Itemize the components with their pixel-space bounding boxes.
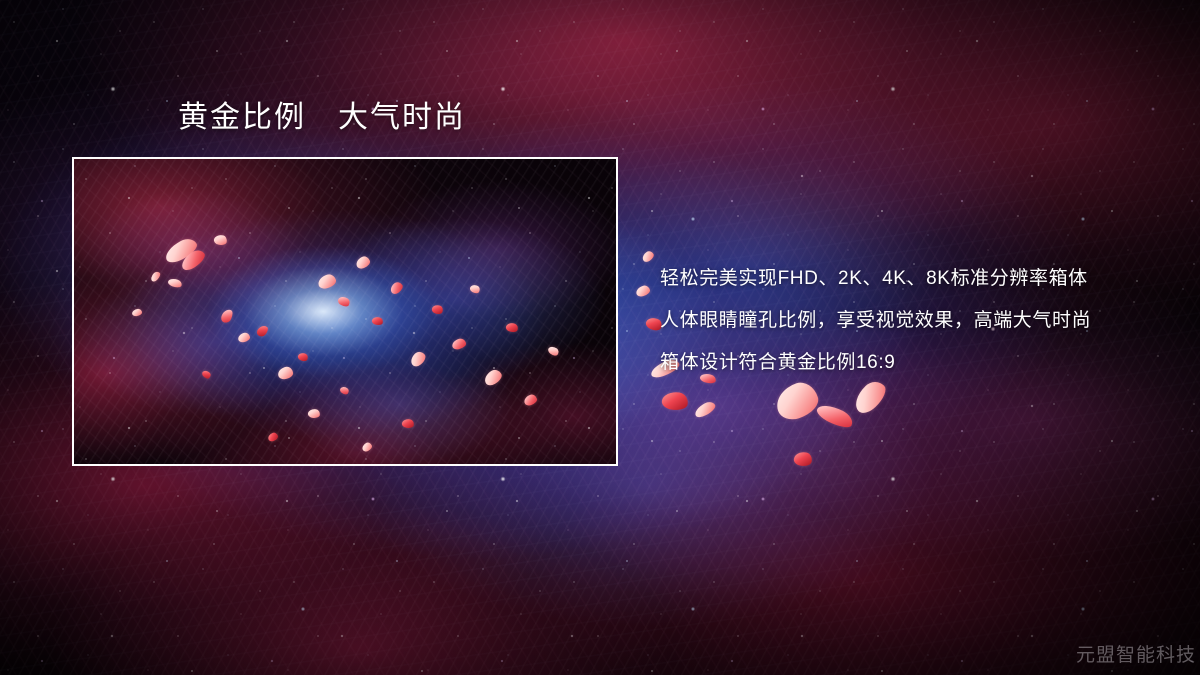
- petal: [178, 247, 207, 273]
- petal: [277, 366, 294, 380]
- petal: [237, 332, 251, 343]
- petal: [693, 399, 718, 419]
- petal: [523, 393, 538, 407]
- body-line-3: 箱体设计符合黄金比例16:9: [660, 342, 1180, 384]
- slide-canvas: 黄金比例 大气时尚 轻松完美实现FHD、2K、4K、8K标准分辨率箱体 人体眼睛…: [0, 0, 1200, 675]
- petal: [482, 367, 504, 387]
- petal: [149, 270, 162, 283]
- petal-field-inside: [72, 157, 618, 466]
- petal: [431, 303, 444, 315]
- slide-title: 黄金比例 大气时尚: [178, 100, 466, 136]
- petal: [317, 273, 338, 290]
- petal: [793, 451, 813, 468]
- petal: [162, 235, 200, 266]
- body-line-1: 轻松完美实现FHD、2K、4K、8K标准分辨率箱体: [660, 258, 1180, 300]
- panel-filament-layer: [72, 157, 618, 466]
- petal: [167, 277, 183, 289]
- petal: [401, 418, 414, 429]
- petal: [451, 337, 467, 350]
- petal: [213, 234, 228, 246]
- petal: [641, 249, 656, 263]
- framed-image-panel: [72, 157, 618, 466]
- petal: [772, 378, 822, 423]
- panel-starfield-medium: [72, 157, 618, 466]
- petal: [255, 324, 270, 339]
- petal: [354, 255, 371, 270]
- petal: [267, 432, 279, 443]
- panel-base-layer: [72, 157, 618, 466]
- body-text-block: 轻松完美实现FHD、2K、4K、8K标准分辨率箱体 人体眼睛瞳孔比例，享受视觉效…: [660, 258, 1180, 384]
- petal: [297, 351, 309, 362]
- petal: [201, 369, 212, 380]
- petal: [132, 308, 143, 316]
- petal: [505, 322, 519, 334]
- petal: [361, 441, 373, 453]
- watermark: 元盟智能科技: [1076, 640, 1196, 667]
- petal: [371, 316, 384, 326]
- panel-blue-core: [72, 157, 618, 466]
- petal: [388, 280, 404, 296]
- panel-starfield-small: [72, 157, 618, 466]
- panel-violet-layer: [72, 157, 618, 466]
- petal: [469, 283, 482, 295]
- petal: [814, 400, 855, 431]
- petal: [635, 284, 651, 297]
- petal: [307, 408, 320, 419]
- petal: [408, 349, 428, 368]
- petal: [219, 308, 234, 325]
- petal: [339, 385, 350, 396]
- body-line-2: 人体眼睛瞳孔比例，享受视觉效果，高端大气时尚: [660, 300, 1180, 342]
- petal: [547, 345, 561, 358]
- panel-crimson-layer: [72, 157, 618, 466]
- petal: [661, 390, 689, 411]
- petal: [337, 295, 352, 309]
